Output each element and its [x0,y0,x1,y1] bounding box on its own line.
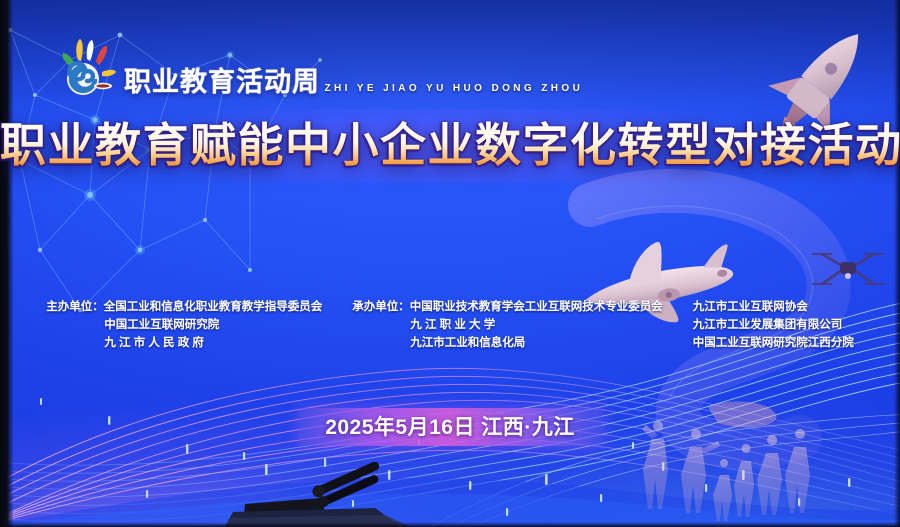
event-week-logo: 职业教育活动周 ZHI YE JIAO YU HUO DONG ZHOU [56,30,583,98]
event-backdrop-stage: 职业教育活动周 ZHI YE JIAO YU HUO DONG ZHOU 职业教… [0,0,900,527]
organizer-line: 承办单位：中国职业技术教育学会工业互联网技术专业委员会 [352,298,663,316]
date-location-text: 2025年5月16日 江西·九江 [325,416,575,439]
organizer-column-organizer: 承办单位：中国职业技术教育学会工业互联网技术专业委员会 九 江 职 业 大 学 … [352,298,663,352]
page-title: 职业教育赋能中小企业数字化转型对接活动 [0,121,900,171]
organizer-line: 中国工业互联网研究院 [46,316,322,334]
organizer-line: 主办单位：全国工业和信息化职业教育教学指导委员会 [46,298,322,316]
organizer-line: 九江市工业互联网协会 [693,298,854,316]
bottom-dark-edge [0,522,900,527]
logo-pinyin-text: ZHI YE JIAO YU HUO DONG ZHOU [324,83,583,94]
organizer-columns: 主办单位：全国工业和信息化职业教育教学指导委员会 中国工业互联网研究院 九 江 … [0,298,900,352]
organizer-column-support: 九江市工业互联网协会 九江市工业发展集团有限公司 中国工业互联网研究院江西分院 [693,298,854,352]
organizer-line: 九江市工业和信息化局 [352,334,663,352]
main-title-area: 职业教育赋能中小企业数字化转型对接活动 [0,121,900,171]
left-dark-edge [0,0,13,527]
organizer-line: 中国工业互联网研究院江西分院 [693,334,854,352]
organizer-line: 九 江 市 人 民 政 府 [46,334,322,352]
organizer-column-host: 主办单位：全国工业和信息化职业教育教学指导委员会 中国工业互联网研究院 九 江 … [46,298,322,352]
vocational-education-week-hand-logo [56,36,118,98]
organizer-line: 九 江 职 业 大 学 [352,316,663,334]
logo-chinese-text: 职业教育活动周 [124,67,320,97]
organizer-line: 九江市工业发展集团有限公司 [693,316,854,334]
date-location-banner: 2025年5月16日 江西·九江 [299,408,601,446]
right-dark-edge [894,0,900,527]
logo-wordmark: 职业教育活动周 ZHI YE JIAO YU HUO DONG ZHOU [124,68,583,98]
